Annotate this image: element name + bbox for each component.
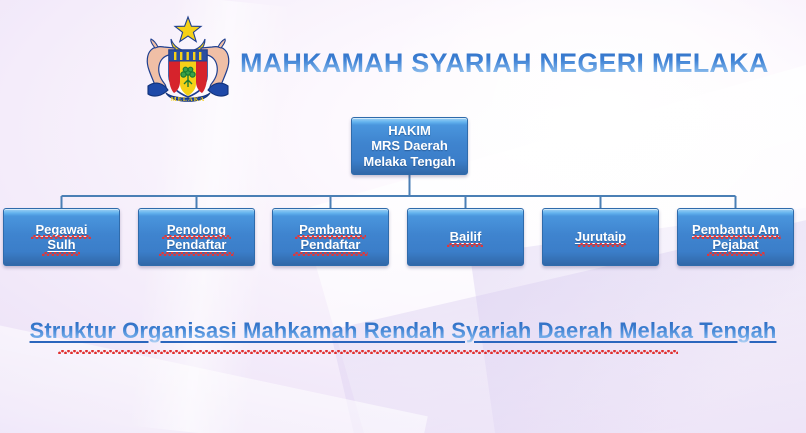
org-node-line-2: Pendaftar	[167, 237, 227, 252]
org-node-line-2: Pendaftar	[299, 237, 362, 252]
org-node-pembantu-pendaftar-label: Pembantu Pendaftar	[295, 222, 366, 253]
org-node-jurutaip-label: Jurutaip	[571, 229, 630, 244]
org-node-bailif[interactable]: Bailif	[407, 208, 524, 266]
org-node-bailif-label: Bailif	[446, 229, 486, 244]
org-node-hakim-line-2: MRS Daerah	[363, 138, 455, 153]
org-node-pembantu-am-pejabat[interactable]: Pembantu Am Pejabat	[677, 208, 794, 266]
melaka-coat-of-arms-icon: MELAKA	[142, 14, 234, 109]
org-node-hakim-line-3: Melaka Tengah	[363, 154, 455, 169]
org-node-line-1: Pegawai	[35, 222, 87, 237]
slide-canvas: MELAKA MAHKAMAH SYARIAH NEGERI MELAKA HA…	[0, 0, 806, 433]
chart-caption: Struktur Organisasi Mahkamah Rendah Syar…	[0, 318, 806, 344]
org-node-penolong-pendaftar-label: Penolong Pendaftar	[163, 222, 231, 253]
org-node-penolong-pendaftar[interactable]: Penolong Pendaftar	[138, 208, 255, 266]
org-node-hakim-label: HAKIM MRS Daerah Melaka Tengah	[359, 123, 459, 169]
org-node-pembantu-pendaftar[interactable]: Pembantu Pendaftar	[272, 208, 389, 266]
org-node-jurutaip[interactable]: Jurutaip	[542, 208, 659, 266]
slide-header: MELAKA MAHKAMAH SYARIAH NEGERI MELAKA	[0, 0, 806, 115]
chart-caption-text: Struktur Organisasi Mahkamah Rendah Syar…	[30, 318, 777, 344]
spellcheck-squiggle-caption	[58, 350, 678, 354]
org-node-line-1: Bailif	[450, 229, 482, 244]
org-node-line-2: Pejabat	[692, 237, 779, 252]
org-node-line-1: Jurutaip	[575, 229, 626, 244]
org-node-line-1: Pembantu Am	[692, 222, 779, 237]
org-node-hakim-line-1: HAKIM	[363, 123, 455, 138]
org-node-hakim[interactable]: HAKIM MRS Daerah Melaka Tengah	[351, 117, 468, 175]
org-node-line-1: Pembantu	[299, 222, 362, 237]
organization-title: MAHKAMAH SYARIAH NEGERI MELAKA	[240, 48, 769, 79]
org-node-line-2: Sulh	[35, 237, 87, 252]
org-node-pegawai-sulh[interactable]: Pegawai Sulh	[3, 208, 120, 266]
org-node-pegawai-sulh-label: Pegawai Sulh	[31, 222, 91, 253]
org-node-pembantu-am-pejabat-label: Pembantu Am Pejabat	[688, 222, 783, 253]
org-node-line-1: Penolong	[167, 222, 227, 237]
crest-motto-text: MELAKA	[171, 96, 205, 103]
